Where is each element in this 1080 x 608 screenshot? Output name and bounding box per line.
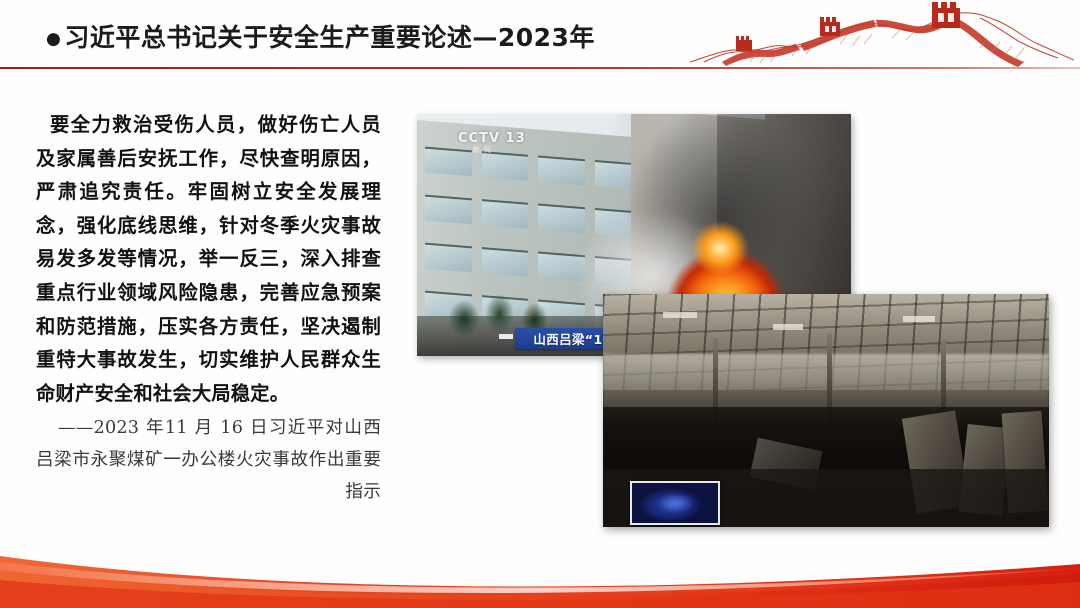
inset-thumbnail xyxy=(630,481,720,525)
interior-light-1 xyxy=(663,312,697,318)
presentation-slide: ●习近平总书记关于安全生产重要论述—2023年 要全力救治受伤人员，做好伤亡人员… xyxy=(0,0,1080,608)
burnt-interior-photo xyxy=(603,294,1049,527)
news-banner-tick xyxy=(499,334,513,339)
interior-light-2 xyxy=(773,324,803,330)
header-divider xyxy=(0,67,1080,69)
cctv-watermark: CCTV 13 xyxy=(458,131,526,146)
interior-light-3 xyxy=(903,316,935,322)
slide-header: ●习近平总书记关于安全生产重要论述—2023年 xyxy=(0,0,1080,68)
photo-flames-upper xyxy=(685,210,755,280)
great-wall-illustration-icon xyxy=(680,0,1080,68)
quote-citation: ——2023 年11 月 16 日习近平对山西吕梁市永聚煤矿一办公楼火灾事故作出… xyxy=(36,412,381,508)
inset-swirl-graphic xyxy=(650,489,702,517)
quote-body-text: 要全力救治受伤人员，做好伤亡人员及家属善后安抚工作，尽快查明原因，严肃追究责任。… xyxy=(36,108,381,410)
quote-block: 要全力救治受伤人员，做好伤亡人员及家属善后安抚工作，尽快查明原因，严肃追究责任。… xyxy=(36,108,381,508)
cctv-watermark-sub: 新闻 xyxy=(473,145,495,155)
page-title: ●习近平总书记关于安全生产重要论述—2023年 xyxy=(46,18,595,54)
bullet-icon: ● xyxy=(46,29,61,49)
footer-ribbon xyxy=(0,528,1080,608)
